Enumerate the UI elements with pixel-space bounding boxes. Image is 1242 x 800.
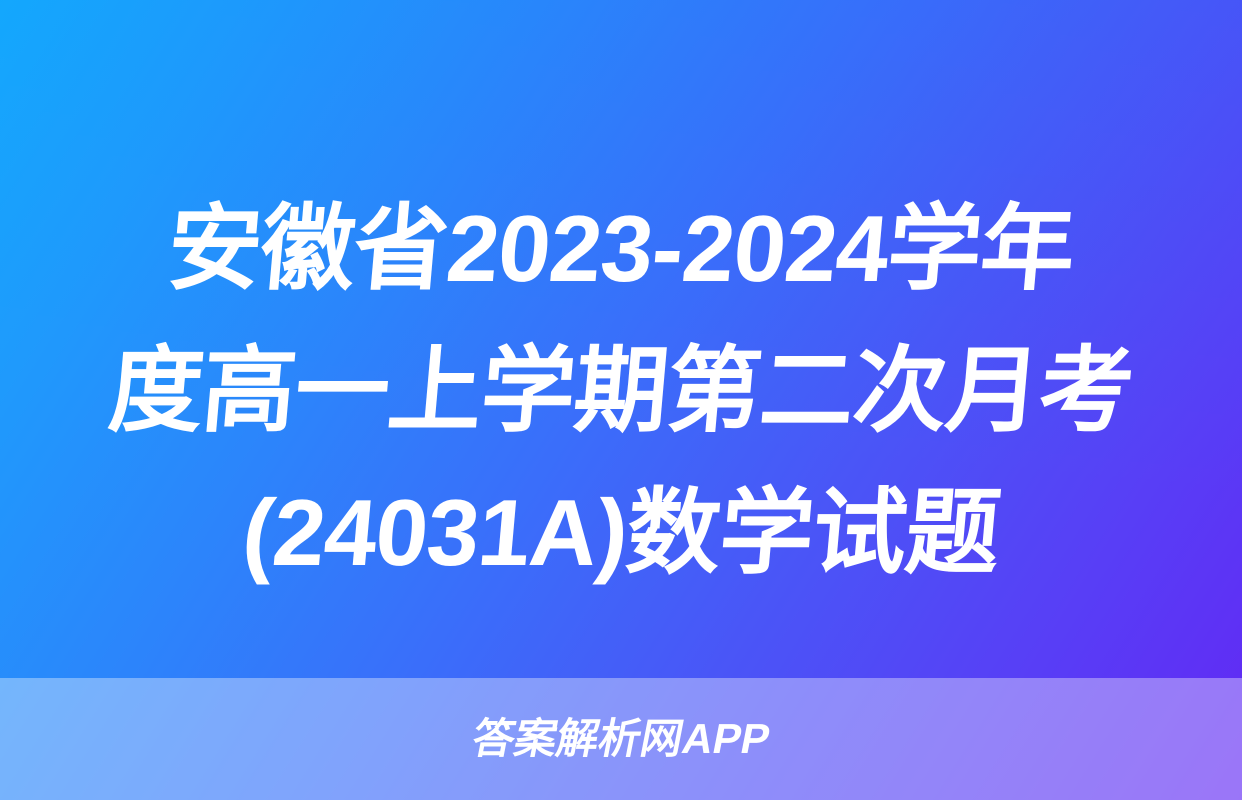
footer-watermark-band: 答案解析网APP — [0, 678, 1242, 800]
title-line-1: 安徽省2023-2024学年 — [28, 178, 1214, 320]
title-line-2: 度高一上学期第二次月考 — [28, 320, 1214, 462]
page-title: 安徽省2023-2024学年 度高一上学期第二次月考 (24031A)数学试题 — [0, 178, 1242, 604]
app-watermark-label: 答案解析网APP — [469, 718, 774, 760]
exam-cover-banner: 安徽省2023-2024学年 度高一上学期第二次月考 (24031A)数学试题 … — [0, 0, 1242, 800]
title-line-3: (24031A)数学试题 — [28, 462, 1214, 604]
